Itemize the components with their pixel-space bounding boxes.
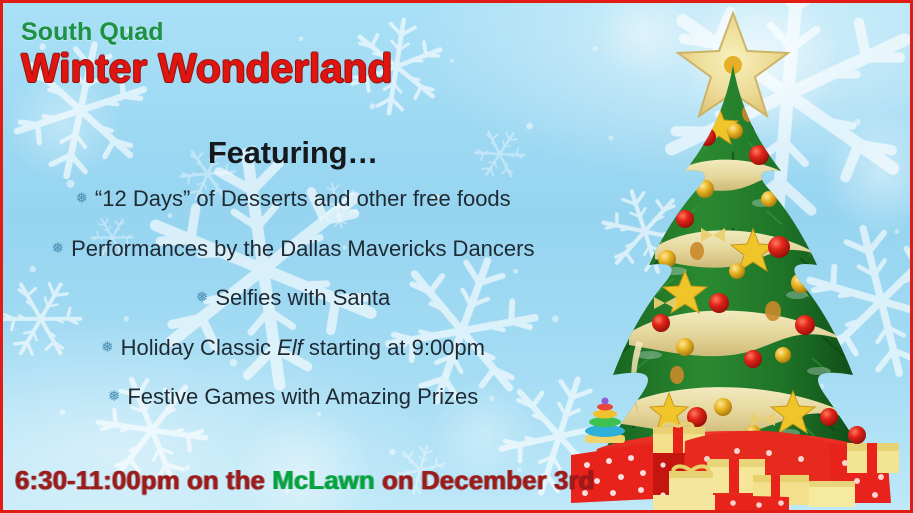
- list-item-label-post: starting at 9:00pm: [303, 335, 485, 360]
- list-item: ❅Selfies with Santa: [3, 284, 583, 313]
- featuring-list: ❅“12 Days” of Desserts and other free fo…: [3, 185, 583, 412]
- tree-foliage: [605, 65, 861, 449]
- list-item-label-pre: Holiday Classic: [121, 335, 278, 360]
- winter-wonderland-poster: South Quad Winter Wonderland Featuring… …: [0, 0, 913, 513]
- poster-header: South Quad Winter Wonderland: [21, 19, 392, 92]
- event-details-footer: 6:30-11:00pm on the McLawn on December 3…: [15, 465, 594, 496]
- snowflake-bullet-icon: ❅: [108, 387, 121, 407]
- list-item-label: Performances by the Dallas Mavericks Dan…: [71, 236, 534, 261]
- list-item-label: Festive Games with Amazing Prizes: [127, 384, 478, 409]
- snowflake-bullet-icon: ❅: [52, 239, 65, 259]
- snowflake-bullet-icon: ❅: [75, 189, 88, 209]
- list-item: ❅Performances by the Dallas Mavericks Da…: [3, 235, 583, 264]
- snowflake-bullet-icon: ❅: [196, 288, 209, 308]
- header-subtitle: South Quad: [21, 19, 392, 45]
- list-item: ❅Holiday Classic Elf starting at 9:00pm: [3, 334, 583, 363]
- list-item: ❅“12 Days” of Desserts and other free fo…: [3, 185, 583, 214]
- event-date: on December 3rd: [375, 465, 595, 495]
- list-item-label: Selfies with Santa: [215, 285, 390, 310]
- event-location: McLawn: [272, 465, 375, 495]
- event-time: 6:30-11:00pm on the: [15, 465, 272, 495]
- movie-title: Elf: [277, 335, 303, 360]
- gift-front-row: [653, 495, 789, 513]
- snowflake-bullet-icon: ❅: [101, 338, 114, 358]
- list-item: ❅Festive Games with Amazing Prizes: [3, 383, 583, 412]
- featuring-heading: Featuring…: [3, 135, 583, 171]
- featuring-section: Featuring… ❅“12 Days” of Desserts and ot…: [3, 135, 583, 433]
- header-title: Winter Wonderland: [21, 46, 392, 92]
- christmas-tree-illustration: [557, 3, 910, 513]
- list-item-label: “12 Days” of Desserts and other free foo…: [95, 186, 511, 211]
- stacking-ring-toy: [585, 398, 625, 444]
